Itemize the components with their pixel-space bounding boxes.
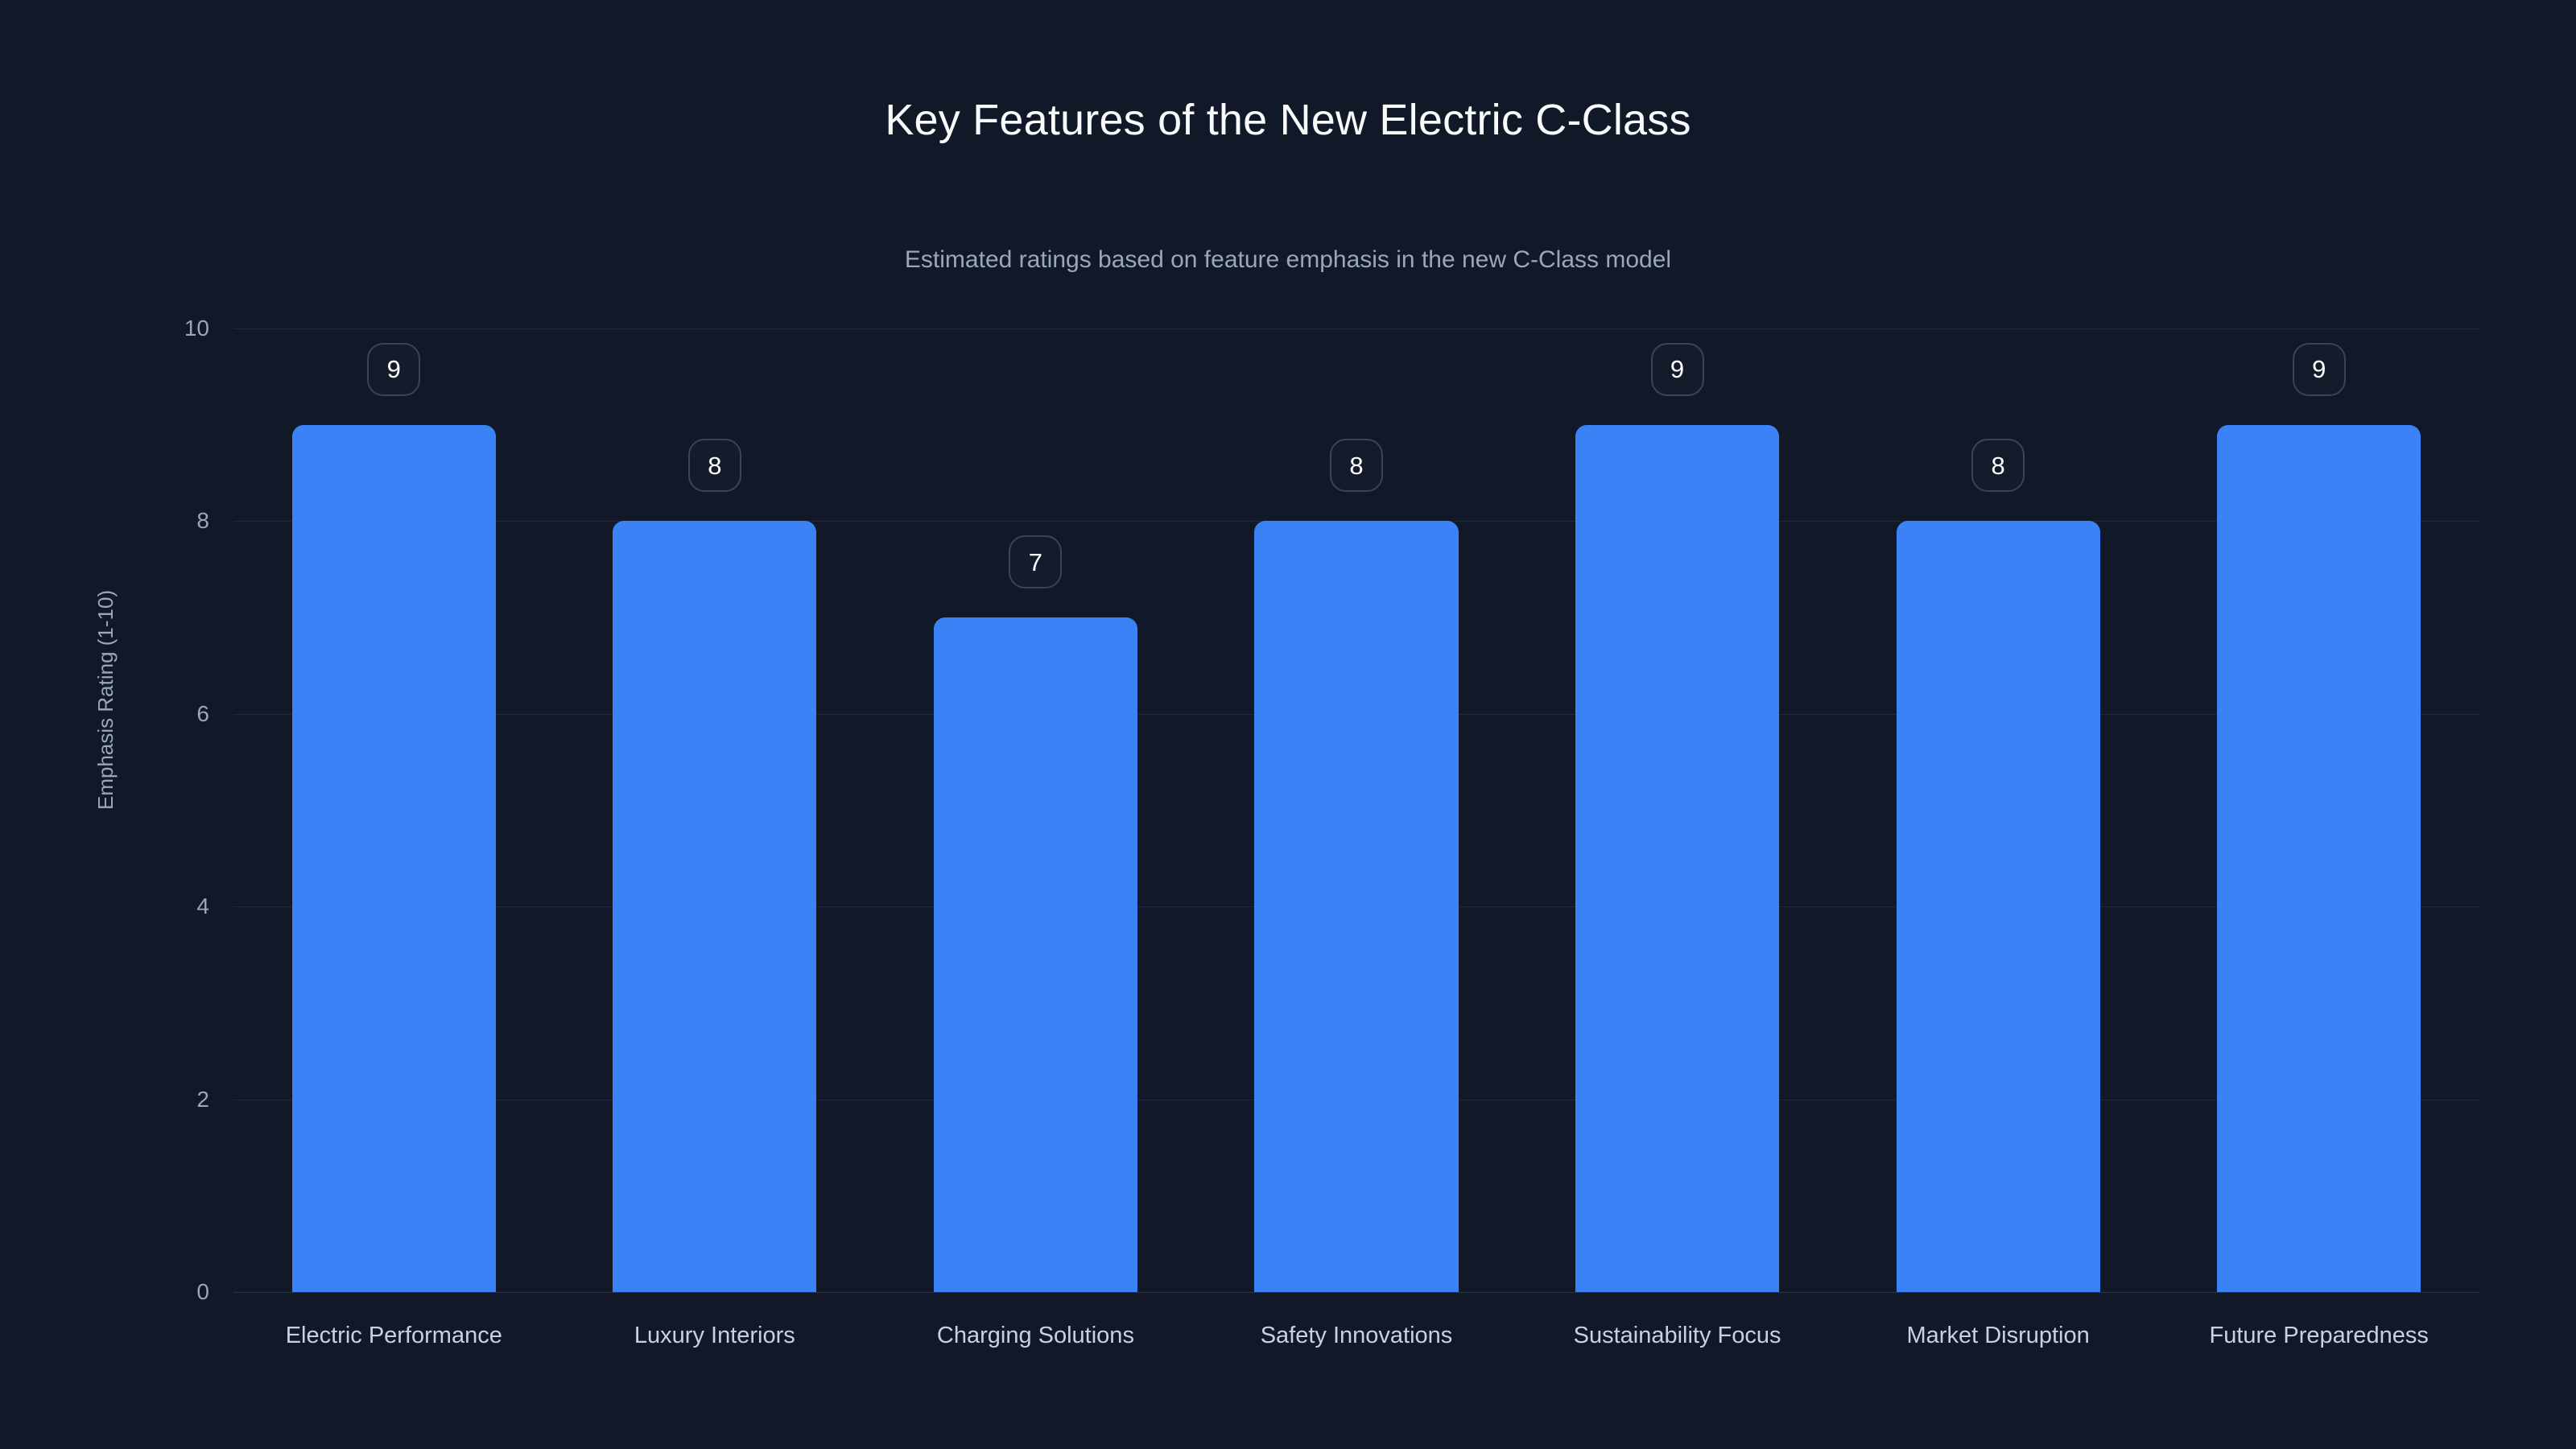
x-tick-label: Electric Performance bbox=[286, 1324, 502, 1348]
bar-group[interactable]: 9 bbox=[292, 328, 496, 1292]
bar-group[interactable]: 9 bbox=[2217, 328, 2421, 1292]
chart-title: Key Features of the New Electric C-Class bbox=[0, 97, 2576, 144]
y-tick-label-4: 4 bbox=[137, 895, 209, 918]
bar-group[interactable]: 8 bbox=[1254, 328, 1458, 1292]
y-tick-label-8: 8 bbox=[137, 510, 209, 532]
bar-value-badge: 9 bbox=[1651, 343, 1704, 396]
y-tick-label-6: 6 bbox=[137, 703, 209, 725]
bar-value-badge: 8 bbox=[688, 439, 741, 492]
chart-figure: Key Features of the New Electric C-Class… bbox=[0, 0, 2576, 1449]
y-axis-title: Emphasis Rating (1-10) bbox=[95, 590, 116, 810]
chart-subtitle: Estimated ratings based on feature empha… bbox=[0, 246, 2576, 273]
bar-value-badge: 7 bbox=[1009, 535, 1062, 588]
y-tick-label-10: 10 bbox=[137, 317, 209, 340]
bar-value-badge: 8 bbox=[1330, 439, 1383, 492]
x-tick-label: Safety Innovations bbox=[1261, 1324, 1453, 1348]
bar[interactable] bbox=[1897, 521, 2100, 1292]
bar[interactable] bbox=[934, 617, 1137, 1292]
bar[interactable] bbox=[613, 521, 816, 1292]
bar-value-badge: 8 bbox=[1971, 439, 2025, 492]
y-tick-label-0: 0 bbox=[137, 1281, 209, 1303]
x-tick-label: Sustainability Focus bbox=[1574, 1324, 1781, 1348]
gridline-0 bbox=[233, 1292, 2479, 1293]
x-tick-label: Future Preparedness bbox=[2209, 1324, 2428, 1348]
bar-group[interactable]: 8 bbox=[613, 328, 816, 1292]
bars-layer: 9878989 bbox=[233, 328, 2479, 1292]
bar[interactable] bbox=[2217, 425, 2421, 1292]
bar-value-badge: 9 bbox=[367, 343, 420, 396]
bar-group[interactable]: 9 bbox=[1575, 328, 1779, 1292]
bar-group[interactable]: 7 bbox=[934, 328, 1137, 1292]
bar[interactable] bbox=[1254, 521, 1458, 1292]
bar-value-badge: 9 bbox=[2293, 343, 2346, 396]
bar[interactable] bbox=[1575, 425, 1779, 1292]
x-tick-label: Luxury Interiors bbox=[634, 1324, 795, 1348]
bar-group[interactable]: 8 bbox=[1897, 328, 2100, 1292]
x-tick-label: Market Disruption bbox=[1907, 1324, 2090, 1348]
y-tick-label-2: 2 bbox=[137, 1088, 209, 1111]
bar[interactable] bbox=[292, 425, 496, 1292]
x-tick-label: Charging Solutions bbox=[937, 1324, 1134, 1348]
